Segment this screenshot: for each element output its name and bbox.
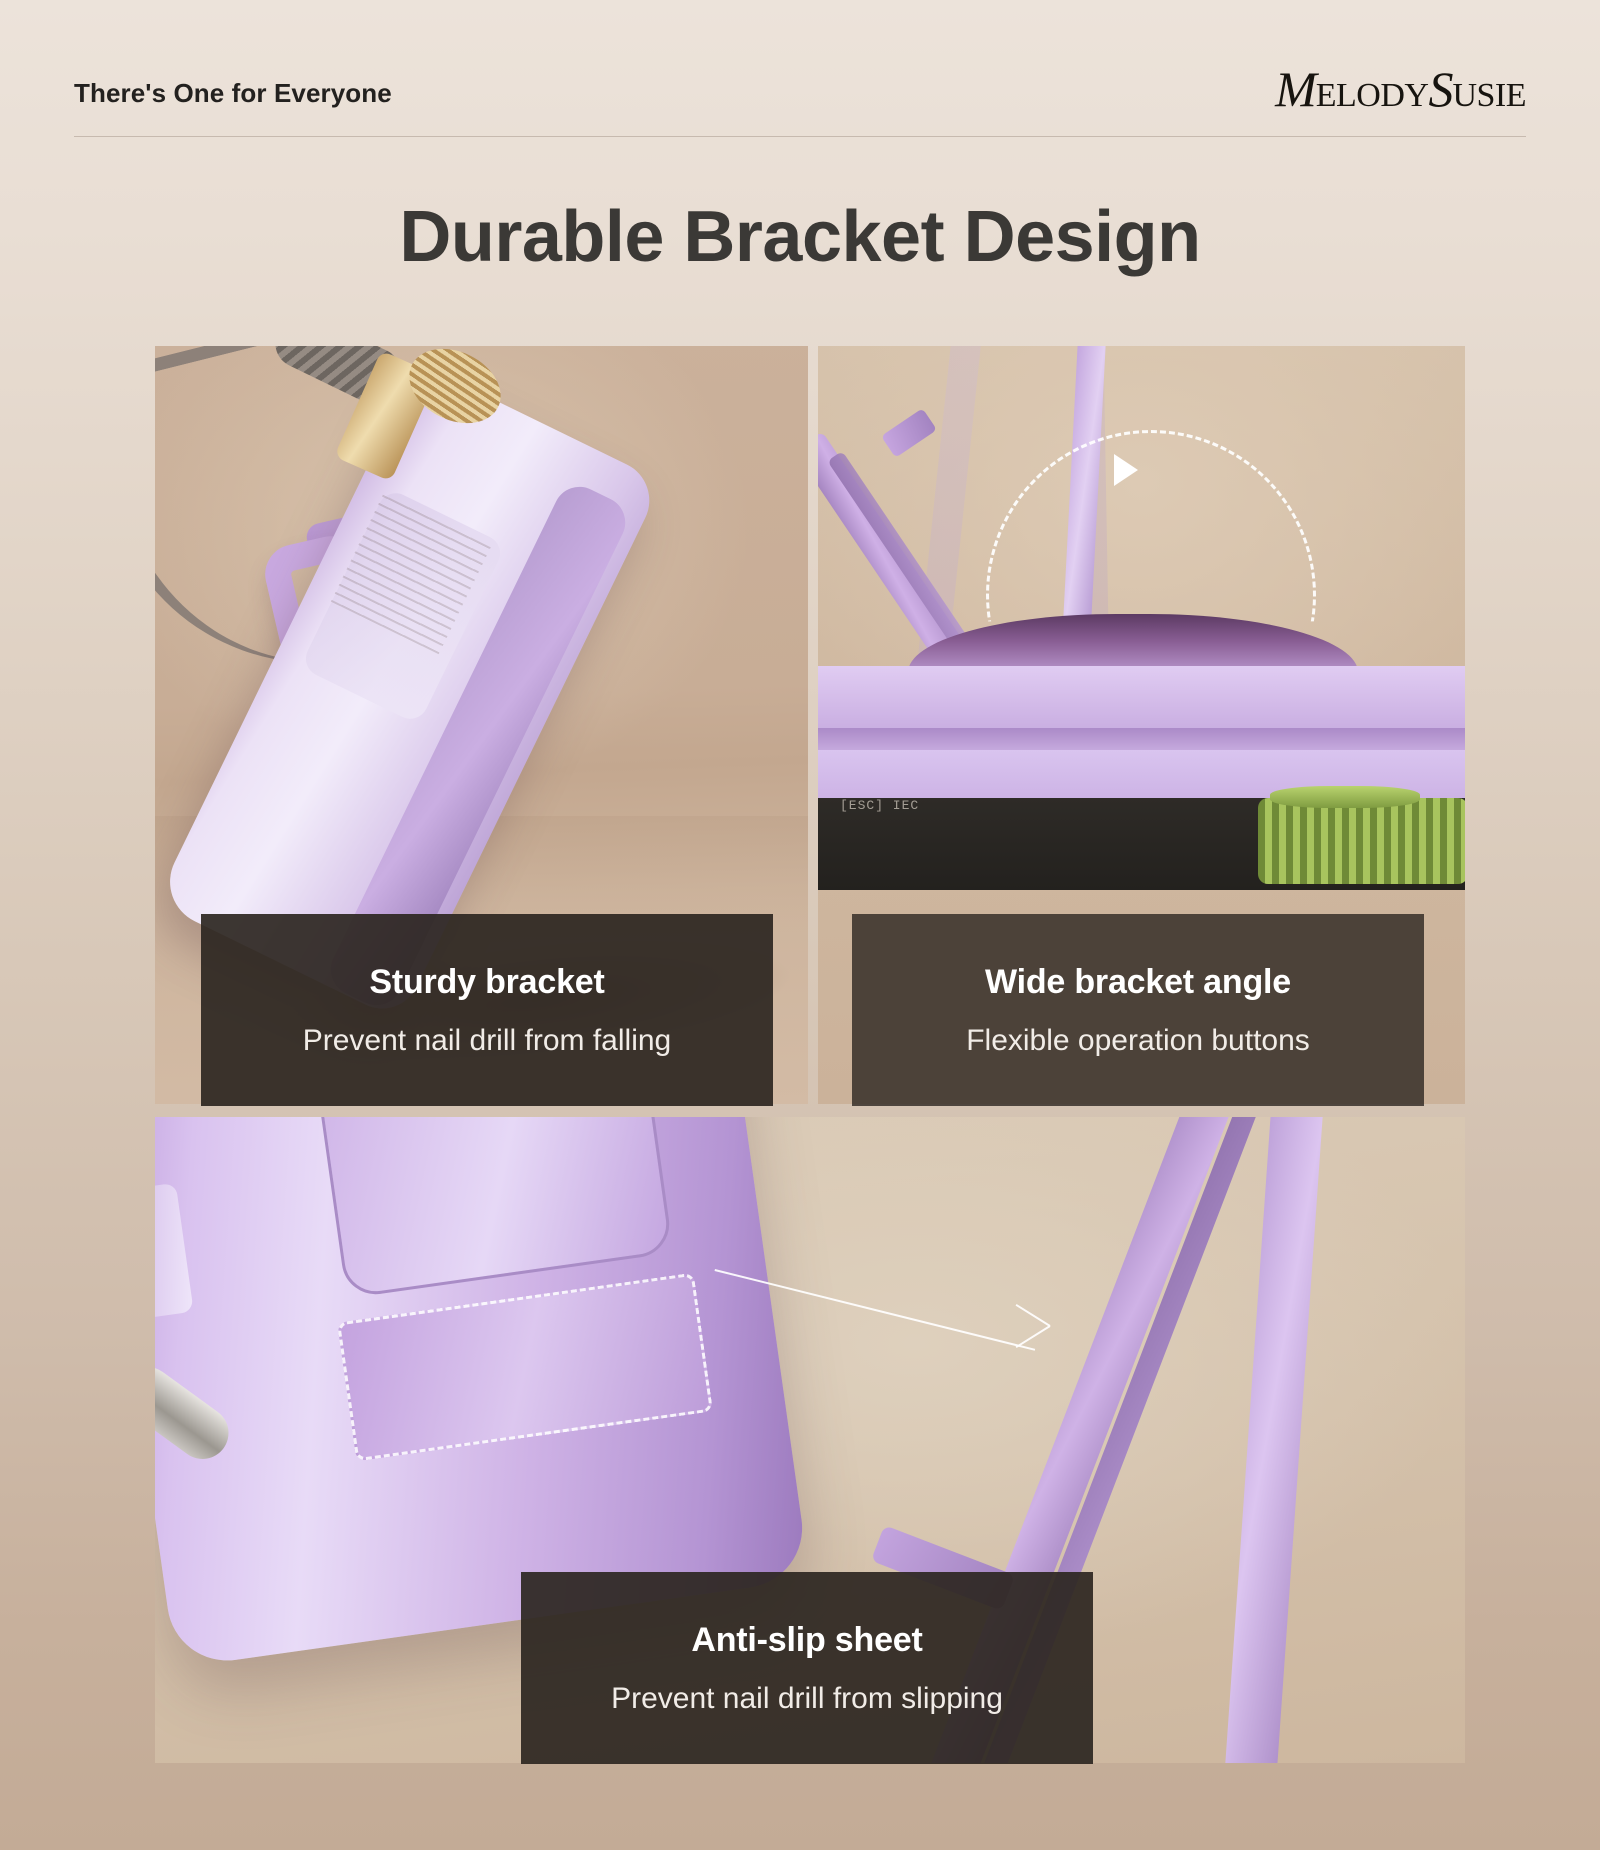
certification-microtext: [ESC] IEC bbox=[840, 798, 919, 813]
caption-subtitle: Prevent nail drill from falling bbox=[303, 1024, 671, 1058]
device-base-seam bbox=[818, 728, 1465, 750]
header-divider bbox=[74, 136, 1526, 137]
speed-knob-cap bbox=[1270, 786, 1420, 808]
brand-logo-elody: ELODY bbox=[1316, 77, 1429, 114]
caption-title: Anti-slip sheet bbox=[691, 1621, 922, 1660]
caption-subtitle: Prevent nail drill from slipping bbox=[611, 1682, 1003, 1716]
caption-anti-slip-sheet: Anti-slip sheet Prevent nail drill from … bbox=[521, 1572, 1093, 1764]
rotation-arrow-icon bbox=[1114, 454, 1138, 486]
device-base-top bbox=[818, 666, 1465, 728]
brand-logo-usie: USIE bbox=[1452, 77, 1526, 114]
caption-wide-bracket-angle: Wide bracket angle Flexible operation bu… bbox=[852, 914, 1424, 1106]
brand-logo-s: S bbox=[1428, 61, 1452, 117]
caption-title: Wide bracket angle bbox=[985, 963, 1291, 1002]
caption-sturdy-bracket: Sturdy bracket Prevent nail drill from f… bbox=[201, 914, 773, 1106]
page-title: Durable Bracket Design bbox=[0, 196, 1600, 278]
caption-subtitle: Flexible operation buttons bbox=[966, 1024, 1310, 1058]
header-tagline: There's One for Everyone bbox=[74, 78, 392, 109]
page-header: There's One for Everyone MELODYSUSIE bbox=[0, 0, 1600, 138]
brand-logo: MELODYSUSIE bbox=[1275, 60, 1526, 118]
brand-logo-m: M bbox=[1275, 61, 1316, 117]
caption-title: Sturdy bracket bbox=[369, 963, 604, 1002]
speed-knob bbox=[1258, 798, 1465, 884]
